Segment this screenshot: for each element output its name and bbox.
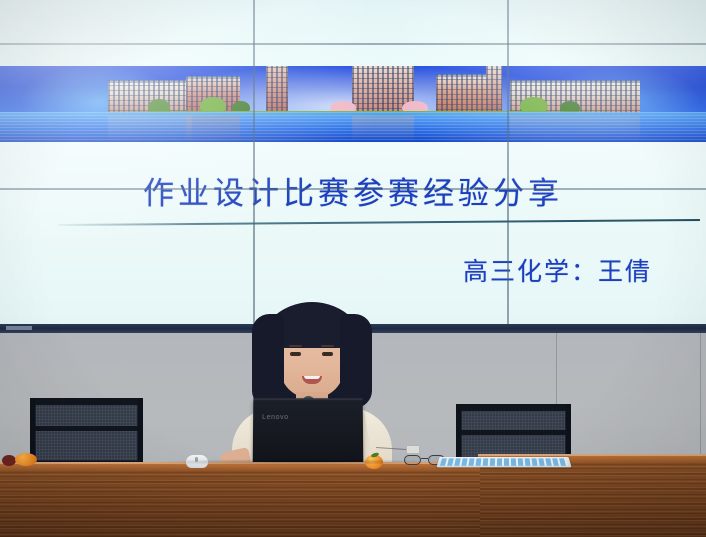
reflection — [108, 116, 192, 142]
desk-left-section — [0, 462, 480, 537]
led-video-wall: 作业设计比赛参赛经验分享 高三化学：王倩 — [0, 0, 706, 326]
reflection — [352, 116, 414, 142]
eyebrow-right — [321, 345, 334, 347]
hair-side-right — [340, 314, 372, 408]
chair-mesh — [36, 404, 137, 460]
desk-socket — [406, 445, 420, 454]
slide-title: 作业设计比赛参赛经验分享 — [0, 168, 706, 213]
eye-right — [322, 352, 333, 356]
video-wall-seam-vertical — [507, 0, 509, 326]
chair-top-bar — [32, 400, 141, 405]
presentation-scene: 作业设计比赛参赛经验分享 高三化学：王倩 — [0, 0, 706, 537]
bezel-highlight — [6, 326, 32, 330]
tangerine-leaf — [371, 452, 380, 458]
chair-mid-bar — [458, 430, 569, 435]
desk-front-panel — [0, 471, 480, 537]
chair-mid-bar — [32, 426, 141, 431]
reflection — [510, 116, 640, 142]
eye-left — [290, 352, 301, 356]
laptop-brand-logo: Lenovo — [262, 414, 289, 421]
reflection — [186, 116, 240, 142]
slide-subtitle: 高三化学：王倩 — [463, 252, 652, 288]
desk-front-panel — [478, 463, 706, 537]
video-wall-seam-horizontal — [0, 43, 706, 45]
chair-post — [138, 398, 143, 464]
chair-top-bar — [458, 406, 569, 411]
laptop[interactable]: Lenovo — [253, 398, 364, 466]
chair-left — [30, 398, 143, 464]
desk-small-items — [2, 452, 46, 466]
dark-item — [2, 455, 16, 466]
keyboard-keys — [440, 458, 568, 465]
small-tower — [486, 66, 502, 114]
laptop-lid-edge — [253, 398, 362, 400]
keyboard[interactable] — [436, 457, 571, 467]
video-wall-seam-vertical — [253, 0, 255, 326]
eyebrow-left — [289, 345, 302, 347]
desk-shadow — [150, 459, 450, 465]
orange-item — [15, 453, 37, 466]
hair-side-left — [252, 314, 284, 408]
campus-panorama-banner — [0, 66, 706, 142]
clock-tower — [266, 66, 288, 114]
video-wall-seam-horizontal — [0, 188, 706, 190]
